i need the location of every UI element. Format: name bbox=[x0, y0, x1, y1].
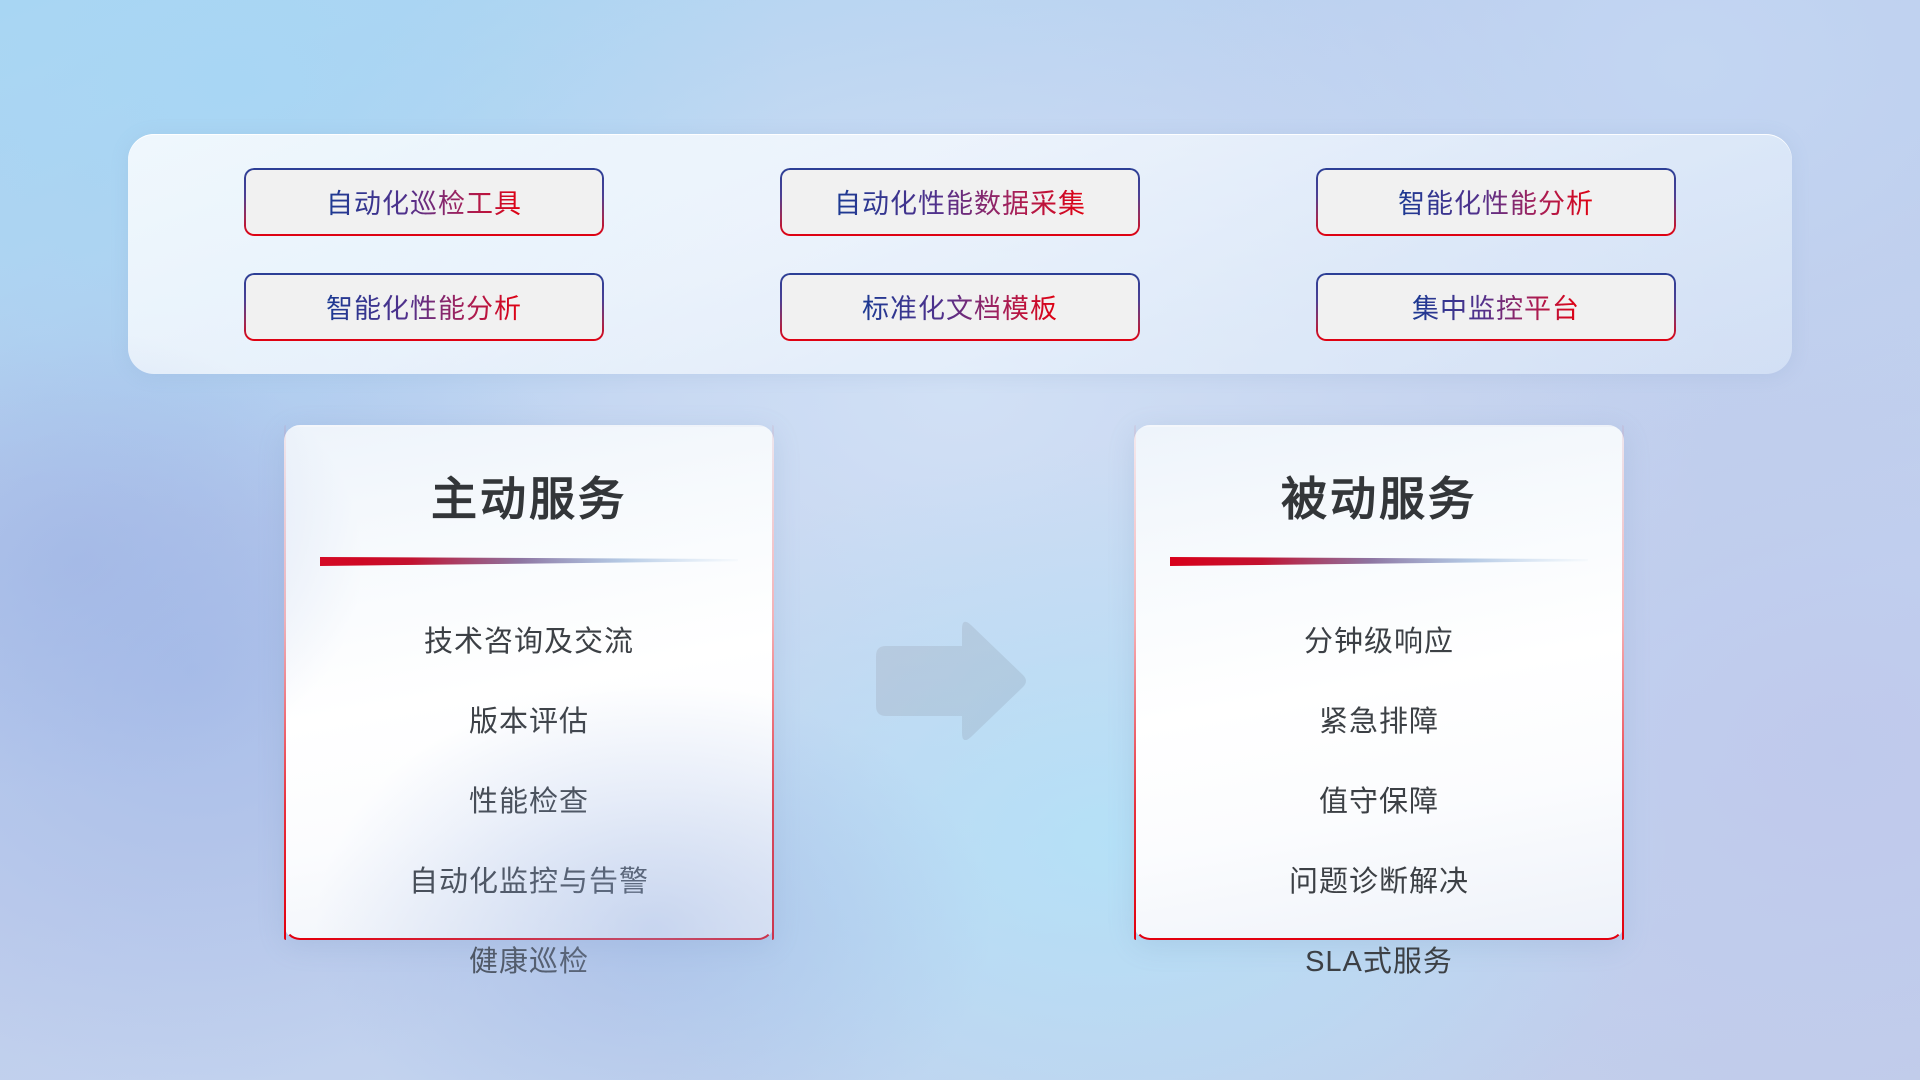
card-list-item: 自动化监控与告警 bbox=[304, 839, 754, 919]
card-divider bbox=[320, 555, 738, 569]
card-item-list: 分钟级响应 紧急排障 值守保障 问题诊断解决 SLA式服务 bbox=[1136, 599, 1622, 999]
card-list-item: 紧急排障 bbox=[1154, 679, 1604, 759]
card-title: 主动服务 bbox=[286, 463, 772, 529]
capability-pill-label: 自动化巡检工具 bbox=[326, 182, 522, 221]
capability-pill[interactable]: 标准化文档模板 bbox=[780, 273, 1140, 341]
card-list-item: 版本评估 bbox=[304, 679, 754, 759]
capability-pill-label: 自动化性能数据采集 bbox=[834, 182, 1086, 221]
card-list-item: 分钟级响应 bbox=[1154, 599, 1604, 679]
card-list-item: 值守保障 bbox=[1154, 759, 1604, 839]
card-list-item: 健康巡检 bbox=[304, 919, 754, 999]
card-item-list: 技术咨询及交流 版本评估 性能检查 自动化监控与告警 健康巡检 bbox=[286, 599, 772, 999]
capability-pill[interactable]: 集中监控平台 bbox=[1316, 273, 1676, 341]
capability-panel: 自动化巡检工具 自动化性能数据采集 智能化性能分析 智能化性能分析 标准化文档模… bbox=[128, 134, 1792, 374]
capability-pill-label: 标准化文档模板 bbox=[862, 287, 1058, 326]
capability-pill[interactable]: 智能化性能分析 bbox=[1316, 168, 1676, 236]
service-card-reactive: 被动服务 分钟级响应 紧急排障 值守保障 问题诊断解决 bbox=[1134, 425, 1624, 940]
capability-pill[interactable]: 自动化巡检工具 bbox=[244, 168, 604, 236]
card-list-item: 性能检查 bbox=[304, 759, 754, 839]
card-list-item: SLA式服务 bbox=[1154, 919, 1604, 999]
slide-canvas: 自动化巡检工具 自动化性能数据采集 智能化性能分析 智能化性能分析 标准化文档模… bbox=[0, 0, 1920, 1080]
card-title: 被动服务 bbox=[1136, 463, 1622, 529]
card-divider bbox=[1170, 555, 1588, 569]
capability-pill-label: 集中监控平台 bbox=[1412, 287, 1580, 326]
capability-pill[interactable]: 自动化性能数据采集 bbox=[780, 168, 1140, 236]
arrow-right-icon bbox=[868, 618, 1028, 740]
service-card-active: 主动服务 技术咨询及交流 版本评估 性能检查 自动化监控与告警 bbox=[284, 425, 774, 940]
capability-pill-label: 智能化性能分析 bbox=[1398, 182, 1594, 221]
capability-pill-label: 智能化性能分析 bbox=[326, 287, 522, 326]
capability-pill[interactable]: 智能化性能分析 bbox=[244, 273, 604, 341]
card-list-item: 问题诊断解决 bbox=[1154, 839, 1604, 919]
card-list-item: 技术咨询及交流 bbox=[304, 599, 754, 679]
